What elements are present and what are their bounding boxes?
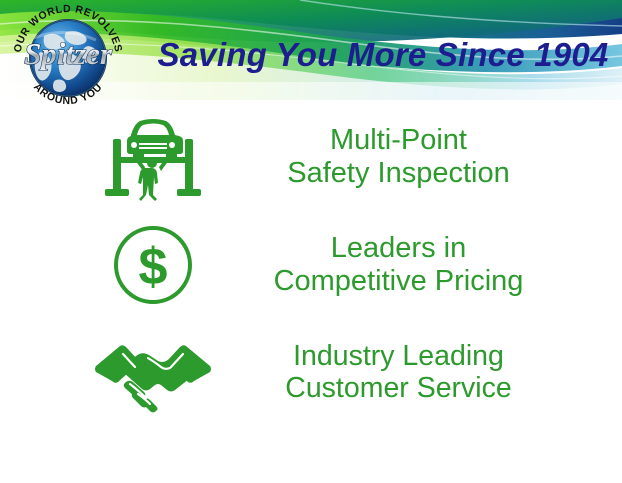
logo-wordmark: Spitzer xyxy=(24,36,113,71)
feature-text-customer-service: Industry Leading Customer Service xyxy=(235,340,570,405)
car-on-lift-icon xyxy=(70,107,235,207)
feature-row-competitive-pricing: $ Leaders in Competitive Pricing xyxy=(70,215,570,315)
feature-line-1: Leaders in xyxy=(331,232,466,264)
feature-line-2: Safety Inspection xyxy=(235,157,562,190)
handshake-icon xyxy=(70,322,235,422)
dollar-circle-icon: $ xyxy=(70,215,235,315)
spitzer-globe-logo[interactable]: OUR WORLD REVOLVES AROUND YOU Spitzer xyxy=(4,2,132,110)
feature-row-customer-service: Industry Leading Customer Service xyxy=(70,322,570,422)
svg-text:$: $ xyxy=(138,238,167,296)
feature-line-2: Customer Service xyxy=(235,372,562,404)
feature-line-1: Industry Leading xyxy=(293,340,504,372)
feature-row-safety-inspection: Multi-Point Safety Inspection xyxy=(70,107,570,207)
feature-line-2: Competitive Pricing xyxy=(235,265,562,298)
feature-line-1: Multi-Point xyxy=(330,124,467,156)
feature-text-competitive-pricing: Leaders in Competitive Pricing xyxy=(235,232,570,298)
page-title: Saving You More Since 1904 xyxy=(150,38,616,73)
feature-text-safety-inspection: Multi-Point Safety Inspection xyxy=(235,124,570,190)
